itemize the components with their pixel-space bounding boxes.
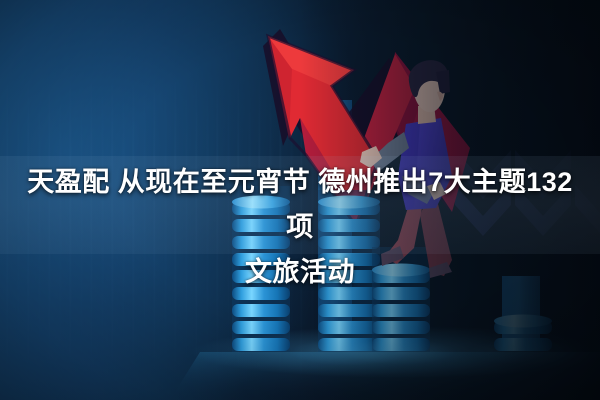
headline-line-1: 天盈配 从现在至元宵节 德州推出7大主题132项 (16, 160, 584, 250)
headline-text: 天盈配 从现在至元宵节 德州推出7大主题132项 文旅活动 (0, 160, 600, 295)
headline-line-2: 文旅活动 (16, 250, 584, 295)
thumbnail-image: 天盈配 从现在至元宵节 德州推出7大主题132项 文旅活动 (0, 0, 600, 400)
